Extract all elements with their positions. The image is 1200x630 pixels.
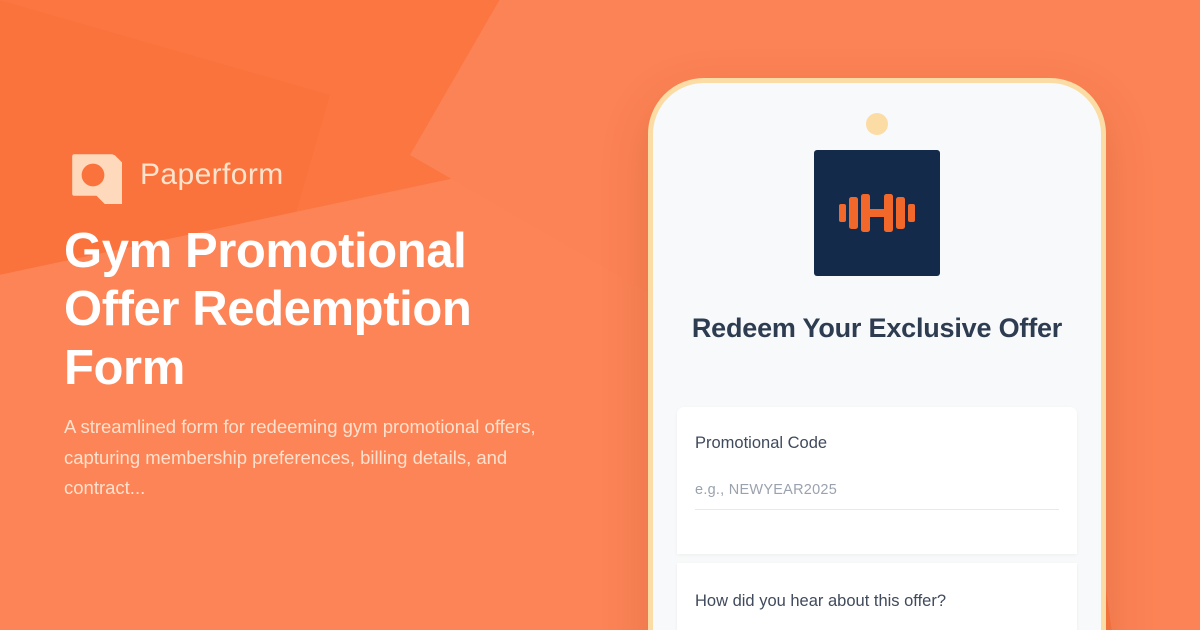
field-spacer <box>695 510 1059 554</box>
hero-content: Paperform Gym Promotional Offer Redempti… <box>64 0 644 630</box>
page-subtitle: A streamlined form for redeeming gym pro… <box>64 412 584 504</box>
page-title: Gym Promotional Offer Redemption Form <box>64 222 534 397</box>
dumbbell-icon <box>814 150 940 276</box>
phone-mockup: Redeem Your Exclusive Offer Promotional … <box>648 78 1106 630</box>
promotional-code-input[interactable]: e.g., NEWYEAR2025 <box>695 482 1059 498</box>
form-field-referral-source: How did you hear about this offer? <box>677 563 1077 630</box>
field-label: How did you hear about this offer? <box>695 591 1059 612</box>
form-field-promotional-code: Promotional Code e.g., NEWYEAR2025 <box>677 407 1077 554</box>
paperform-rosette-logo-icon <box>64 146 122 204</box>
camera-dot-icon <box>866 113 888 135</box>
field-label: Promotional Code <box>695 433 1059 454</box>
form-title: Redeem Your Exclusive Offer <box>675 311 1079 347</box>
brand-name: Paperform <box>140 158 284 192</box>
brand-lockup: Paperform <box>64 146 284 204</box>
form-field-list: Promotional Code e.g., NEWYEAR2025 How d… <box>677 407 1077 630</box>
promo-banner: Paperform Gym Promotional Offer Redempti… <box>0 0 1200 630</box>
